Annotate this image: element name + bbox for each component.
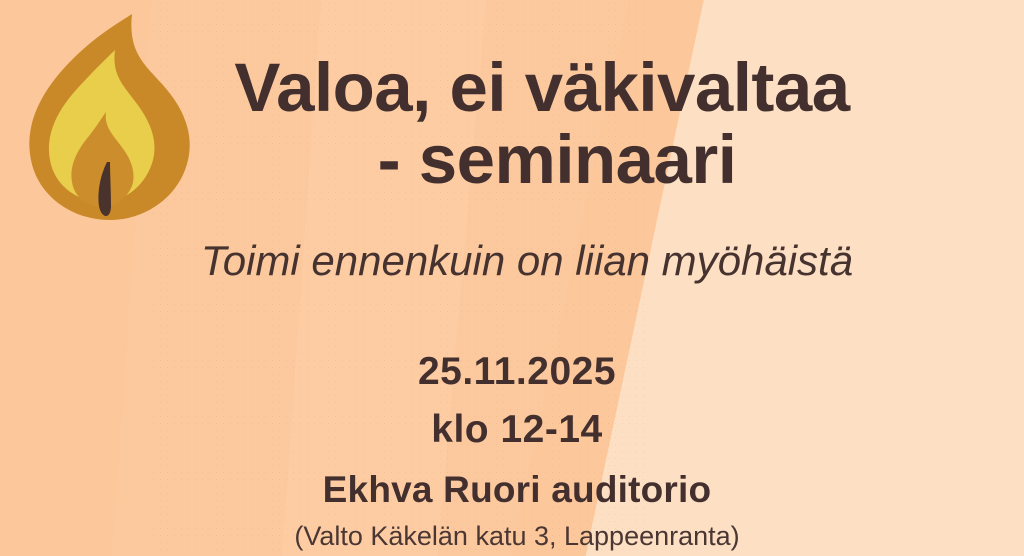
event-venue: Ekhva Ruori auditorio xyxy=(10,471,1024,508)
event-address: (Valto Käkelän katu 3, Lappeenranta) xyxy=(10,523,1024,550)
poster-subtitle: Toimi ennenkuin on liian myöhäistä xyxy=(120,237,934,285)
title-line-2: - seminaari xyxy=(150,124,934,196)
event-details: 25.11.2025 klo 12-14 Ekhva Ruori auditor… xyxy=(0,352,1024,550)
event-time: klo 12-14 xyxy=(10,410,1024,449)
poster-title: Valoa, ei väkivaltaa - seminaari xyxy=(150,52,934,196)
seminar-poster: Valoa, ei väkivaltaa - seminaari Toimi e… xyxy=(0,0,1024,556)
event-date: 25.11.2025 xyxy=(10,352,1024,391)
poster-content: Valoa, ei väkivaltaa - seminaari Toimi e… xyxy=(0,0,1024,556)
title-line-1: Valoa, ei väkivaltaa xyxy=(150,52,934,124)
